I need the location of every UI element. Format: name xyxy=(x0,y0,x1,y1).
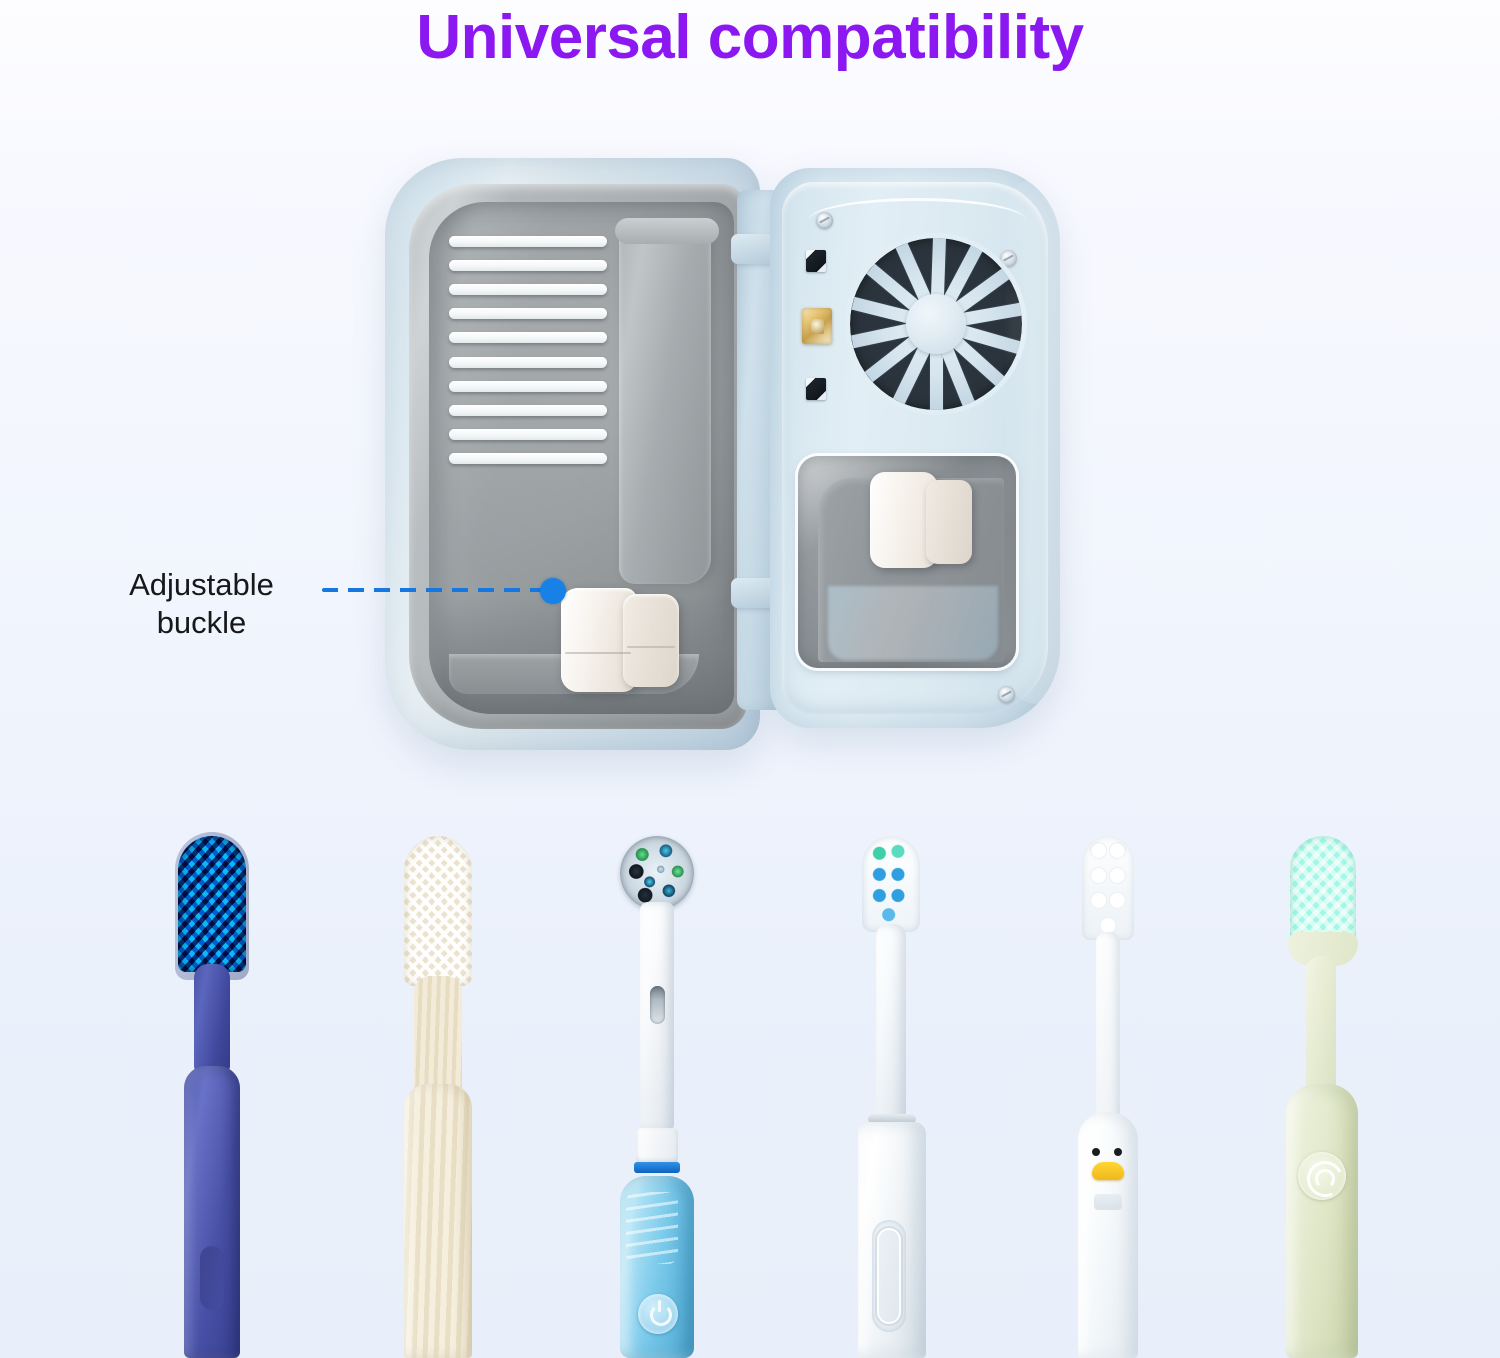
mirror-buckle-side-reflection xyxy=(926,480,972,564)
manual-toothbrush-bamboo xyxy=(388,836,488,1358)
compatible-toothbrush-row xyxy=(0,836,1500,1358)
fan-ring xyxy=(845,233,1027,415)
vent-slot xyxy=(449,405,607,416)
duck-eye-icon xyxy=(1114,1148,1122,1156)
sanitizer-case-image xyxy=(385,150,1085,760)
shell-gloss-highlight xyxy=(385,158,445,750)
brush-neck xyxy=(414,976,462,1096)
mirror-glare xyxy=(828,586,998,660)
brush-handle xyxy=(404,1084,472,1358)
case-right-half xyxy=(770,168,1060,728)
led-module xyxy=(806,378,826,400)
vent-slot xyxy=(449,260,607,271)
vent-slot-group xyxy=(443,230,613,470)
power-button-outline xyxy=(877,1228,901,1324)
buckle-seam xyxy=(565,652,631,654)
shell-gloss-highlight xyxy=(1004,178,1060,704)
uv-c-led-module xyxy=(802,308,832,344)
case-left-half xyxy=(385,158,760,750)
brush-neck xyxy=(876,924,906,1122)
vent-slot xyxy=(449,284,607,295)
vent-slot xyxy=(449,236,607,247)
vent-slot xyxy=(449,381,607,392)
electric-toothbrush-sage-green xyxy=(1272,836,1372,1358)
page-title: Universal compatibility xyxy=(0,2,1500,73)
callout-label: Adjustable buckle xyxy=(84,566,319,642)
brush-neck xyxy=(1096,932,1120,1130)
callout-leader-dot xyxy=(540,578,566,604)
callout-leader-line xyxy=(322,588,550,592)
power-icon xyxy=(650,1304,672,1326)
buckle-seam xyxy=(627,646,675,648)
bristles xyxy=(404,836,472,986)
wear-indicator xyxy=(650,986,665,1024)
tray-ridge-top xyxy=(615,218,719,244)
rotating-brush-head xyxy=(620,836,694,910)
vent-slot xyxy=(449,357,607,368)
vent-slot xyxy=(449,429,607,440)
fan-grille-icon xyxy=(850,238,1022,410)
led-module xyxy=(806,250,826,272)
duck-beak-icon xyxy=(1092,1162,1124,1180)
buckle-side-tab xyxy=(623,594,679,687)
brush-handle xyxy=(1286,1084,1358,1358)
uv-led-strip xyxy=(802,250,838,400)
vent-slot xyxy=(449,308,607,319)
spiral-power-button[interactable] xyxy=(1298,1152,1346,1200)
handle-grip xyxy=(200,1246,224,1310)
duck-eye-icon xyxy=(1092,1148,1100,1156)
brush-neck xyxy=(194,964,230,1074)
electric-toothbrush-sonic-white xyxy=(846,836,938,1358)
screw-icon xyxy=(816,212,833,229)
electric-toothbrush-round-head xyxy=(600,836,712,1358)
brush-handle xyxy=(184,1066,240,1358)
product-feature-banner: Universal compatibility xyxy=(0,0,1500,1358)
bristles xyxy=(1082,836,1134,940)
bristles xyxy=(178,836,246,972)
bristles xyxy=(862,836,920,932)
adjustable-buckle xyxy=(561,586,681,694)
brush-neck xyxy=(1306,956,1336,1104)
vent-slot xyxy=(449,332,607,343)
tray-ridge xyxy=(619,224,711,584)
kids-toothbrush-duck xyxy=(1062,836,1154,1358)
mirror-panel xyxy=(798,456,1016,668)
vent-slot xyxy=(449,453,607,464)
accent-ring xyxy=(634,1162,680,1173)
handle-grip xyxy=(626,1192,678,1264)
head-collar xyxy=(636,1128,678,1164)
manual-toothbrush-blue xyxy=(164,836,260,1358)
case-left-cavity xyxy=(429,202,734,714)
duck-feet-icon xyxy=(1094,1194,1122,1210)
brush-handle xyxy=(1078,1112,1138,1358)
